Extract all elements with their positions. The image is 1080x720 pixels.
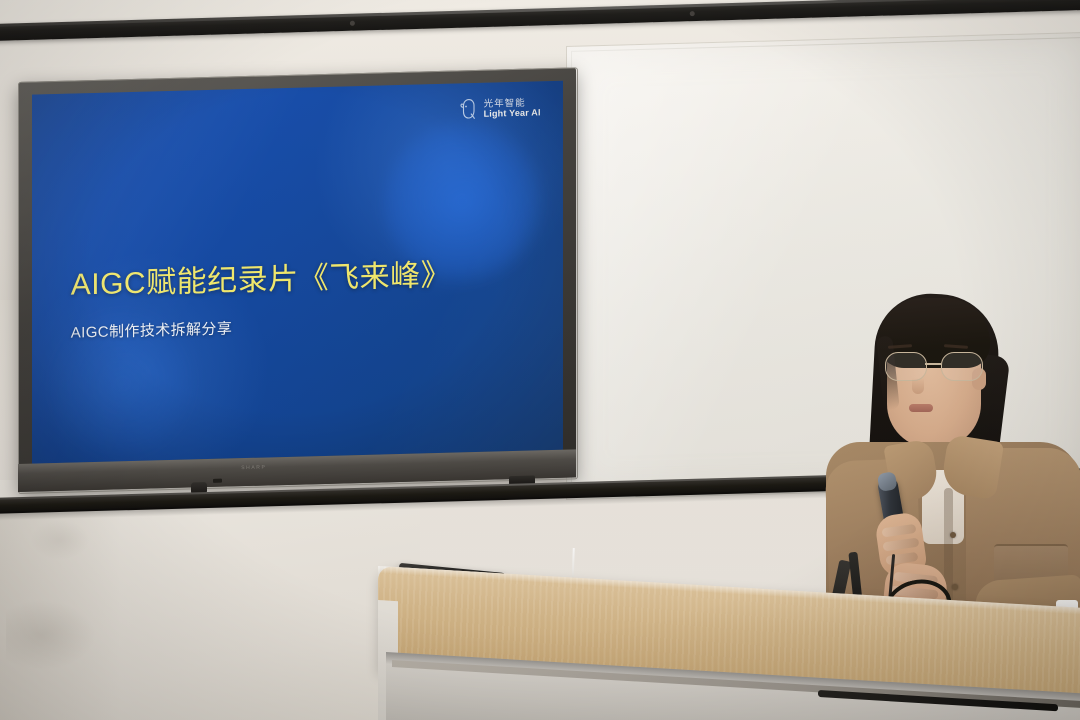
microphone-head — [877, 471, 898, 492]
lens-left — [885, 352, 927, 381]
logo-wordmark: 光年智能 Light Year AI — [484, 98, 541, 119]
eyeglasses — [883, 352, 987, 380]
display-brand-label: SHARP — [241, 464, 266, 471]
glasses-bridge — [925, 363, 941, 365]
rail-screw — [690, 11, 695, 16]
slide-logo: 光年智能 Light Year AI — [459, 97, 541, 121]
jacket-button — [952, 584, 958, 590]
slide-subtitle: AIGC制作技术拆解分享 — [71, 320, 232, 342]
wall-smudge — [6, 600, 96, 670]
finger — [882, 524, 917, 538]
logo-name-en: Light Year AI — [484, 108, 541, 119]
rail-screw — [350, 21, 355, 26]
nose — [912, 378, 924, 394]
slide-title: AIGC赋能纪录片《飞来峰》 — [71, 259, 451, 302]
presentation-room-photo: 光年智能 Light Year AI AIGC赋能纪录片《飞来峰》 AIGC制作… — [0, 0, 1080, 720]
finger — [882, 538, 919, 552]
slide-screen[interactable]: 光年智能 Light Year AI AIGC赋能纪录片《飞来峰》 AIGC制作… — [32, 81, 563, 464]
display-ir-sensor — [213, 479, 222, 483]
lens-right — [941, 352, 983, 381]
jacket-button — [950, 532, 956, 538]
wall-display: 光年智能 Light Year AI AIGC赋能纪录片《飞来峰》 AIGC制作… — [18, 67, 576, 492]
mouth — [909, 404, 933, 412]
wall-smudge-secondary — [30, 520, 90, 560]
bear-head-outline-icon — [459, 98, 478, 120]
